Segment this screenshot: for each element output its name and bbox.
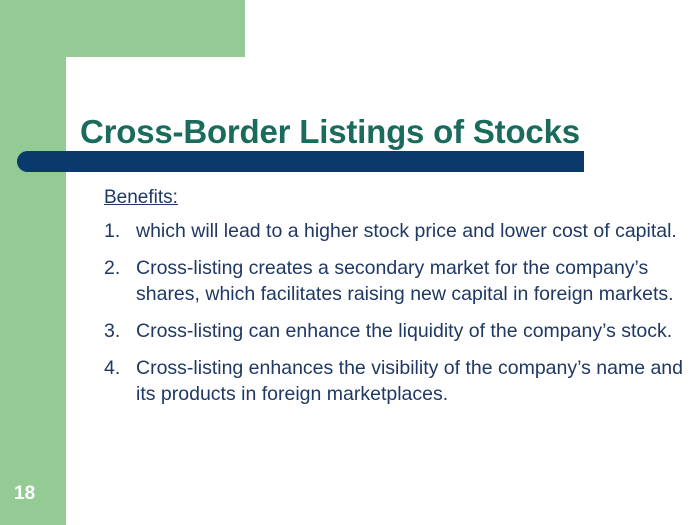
benefits-list: 1. which will lead to a higher stock pri… [104, 218, 694, 407]
list-item: 1. which will lead to a higher stock pri… [104, 218, 694, 244]
list-item-text: Cross-listing enhances the visibility of… [136, 355, 694, 407]
slide-body: Benefits: 1. which will lead to a higher… [104, 186, 694, 418]
title-accent-bar [17, 151, 584, 172]
list-item-text: which will lead to a higher stock price … [136, 218, 694, 244]
list-item: 2. Cross-listing creates a secondary mar… [104, 255, 694, 307]
slide-page-number: 18 [14, 482, 35, 506]
benefits-heading: Benefits: [104, 186, 178, 210]
list-item: 3. Cross-listing can enhance the liquidi… [104, 318, 694, 344]
list-item: 4. Cross-listing enhances the visibility… [104, 355, 694, 407]
slide-title: Cross-Border Listings of Stocks [80, 112, 690, 152]
presentation-slide: Cross-Border Listings of Stocks Benefits… [0, 0, 700, 525]
list-item-number: 2. [104, 255, 120, 281]
list-item-text: Cross-listing can enhance the liquidity … [136, 318, 694, 344]
list-item-number: 3. [104, 318, 120, 344]
list-item-number: 4. [104, 355, 120, 381]
list-item-text: Cross-listing creates a secondary market… [136, 255, 694, 307]
list-item-number: 1. [104, 218, 120, 244]
green-sidebar-strip [0, 0, 66, 525]
